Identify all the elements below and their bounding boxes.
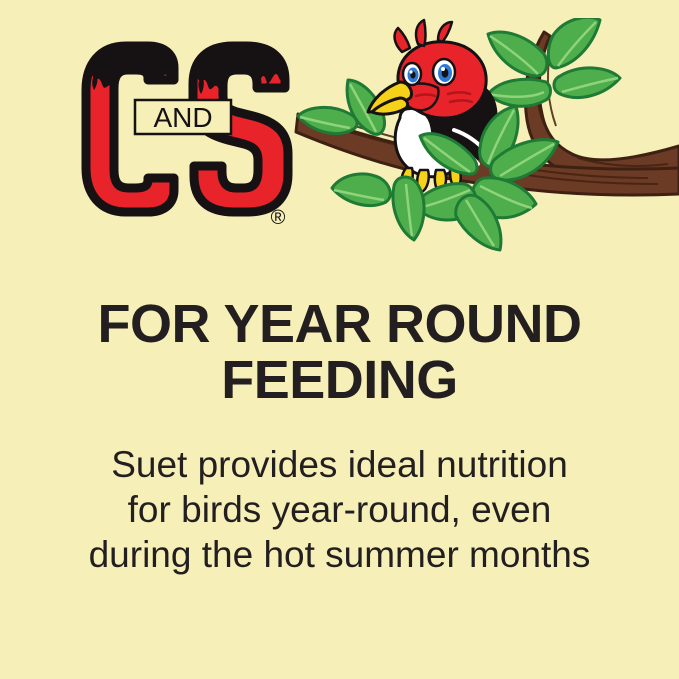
product-feature-panel: AND ® [0,0,679,679]
headline-line-1: FOR YEAR ROUND [28,296,651,352]
leaf-cluster-upper-right [488,18,620,106]
registered-trademark-icon: ® [271,207,286,228]
copy-block: FOR YEAR ROUND FEEDING Suet provides ide… [0,296,679,577]
subcopy: Suet provides ideal nutrition for birds … [0,442,679,577]
logo-and-box: AND [135,100,231,134]
subcopy-line-2: for birds year-round, even [34,487,645,532]
woodpecker-eye-near [433,59,455,85]
logo-and-text: AND [153,102,212,133]
c-and-s-logo: AND ® [78,28,293,228]
headline-line-2: FEEDING [28,352,651,408]
subcopy-line-1: Suet provides ideal nutrition [34,442,645,487]
subcopy-line-3: during the hot summer months [34,532,645,577]
page-title: FOR YEAR ROUND FEEDING [0,296,679,408]
woodpecker-on-branch-illustration [288,18,679,280]
illustration-band: AND ® [0,0,679,285]
